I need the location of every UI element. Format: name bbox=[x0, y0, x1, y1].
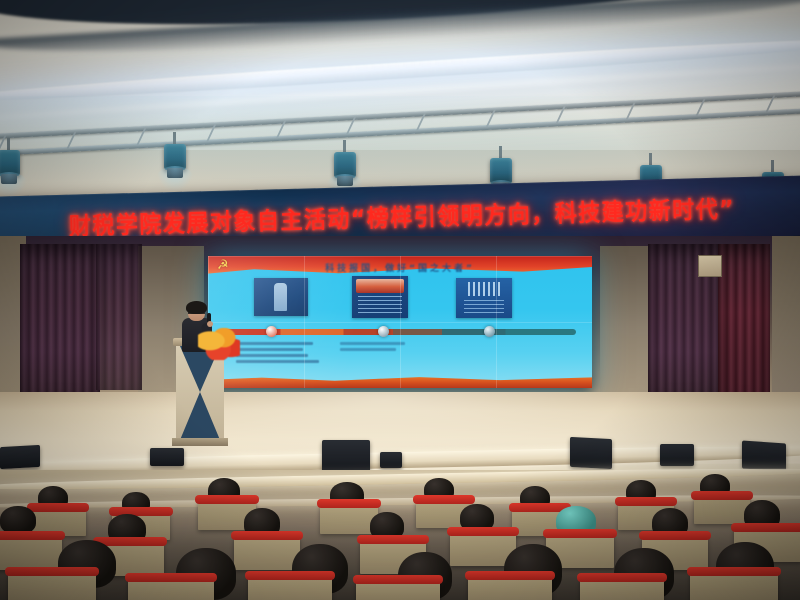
wall-panel-right bbox=[600, 246, 652, 394]
slide-body-text-right bbox=[340, 342, 414, 372]
stage-curtain-right-outer bbox=[718, 244, 770, 396]
seat bbox=[128, 578, 214, 600]
slide-image-center-photo bbox=[356, 279, 404, 293]
seat bbox=[694, 496, 750, 524]
presenter-hand bbox=[207, 321, 213, 327]
lectern-body bbox=[176, 346, 224, 442]
stage-light-2 bbox=[164, 142, 186, 182]
floor-monitor-1 bbox=[0, 445, 40, 469]
slide-image-right bbox=[456, 278, 512, 318]
floor-monitor-5 bbox=[570, 437, 612, 469]
wall-pillar-right bbox=[772, 236, 800, 396]
slide-timeline-marker-3 bbox=[484, 326, 495, 337]
seat bbox=[690, 572, 778, 600]
floor-monitor-3 bbox=[322, 440, 370, 474]
flower-arrangement bbox=[198, 328, 240, 360]
seat bbox=[580, 578, 664, 600]
slide-timeline-marker-2 bbox=[378, 326, 389, 337]
slide-image-center bbox=[352, 276, 408, 318]
audience-head bbox=[0, 506, 36, 534]
stage-light-3 bbox=[334, 150, 356, 190]
floor-monitor-6 bbox=[660, 444, 694, 466]
slide-body-text-left bbox=[236, 342, 324, 372]
slide-timeline-marker-1 bbox=[266, 326, 277, 337]
notice-plate bbox=[698, 255, 722, 277]
floor-monitor-4 bbox=[380, 452, 402, 468]
presenter-hair bbox=[186, 301, 207, 314]
seat bbox=[248, 576, 332, 600]
slide-image-right-caption bbox=[464, 300, 504, 314]
floor-monitor-7 bbox=[742, 440, 786, 471]
lectern-panel-lower bbox=[180, 392, 220, 440]
stage-curtain-left-inner bbox=[96, 244, 142, 390]
slide-image-right-photo bbox=[468, 282, 500, 296]
stage-curtain-left bbox=[20, 244, 100, 394]
slide-image-left bbox=[254, 278, 308, 316]
lectern-base bbox=[172, 438, 228, 446]
stage-light-1 bbox=[0, 148, 20, 188]
slide-title: 科技报国，做好“国之大者” bbox=[208, 261, 592, 274]
floor-monitor-2 bbox=[150, 448, 184, 466]
led-video-wall[interactable]: ☭ 科技报国，做好“国之大者” bbox=[208, 256, 592, 388]
slide-image-center-caption bbox=[358, 296, 402, 314]
seat bbox=[8, 572, 96, 600]
seat bbox=[356, 580, 440, 600]
seat bbox=[234, 536, 300, 570]
slide-image-left-subject bbox=[274, 283, 287, 311]
auditorium-photo: 财税学院发展对象自主活动“榜样引领明方向，科技建功新时代” ☭ 科技报国，做好“… bbox=[0, 0, 800, 600]
seat bbox=[0, 536, 62, 570]
seat bbox=[468, 576, 552, 600]
